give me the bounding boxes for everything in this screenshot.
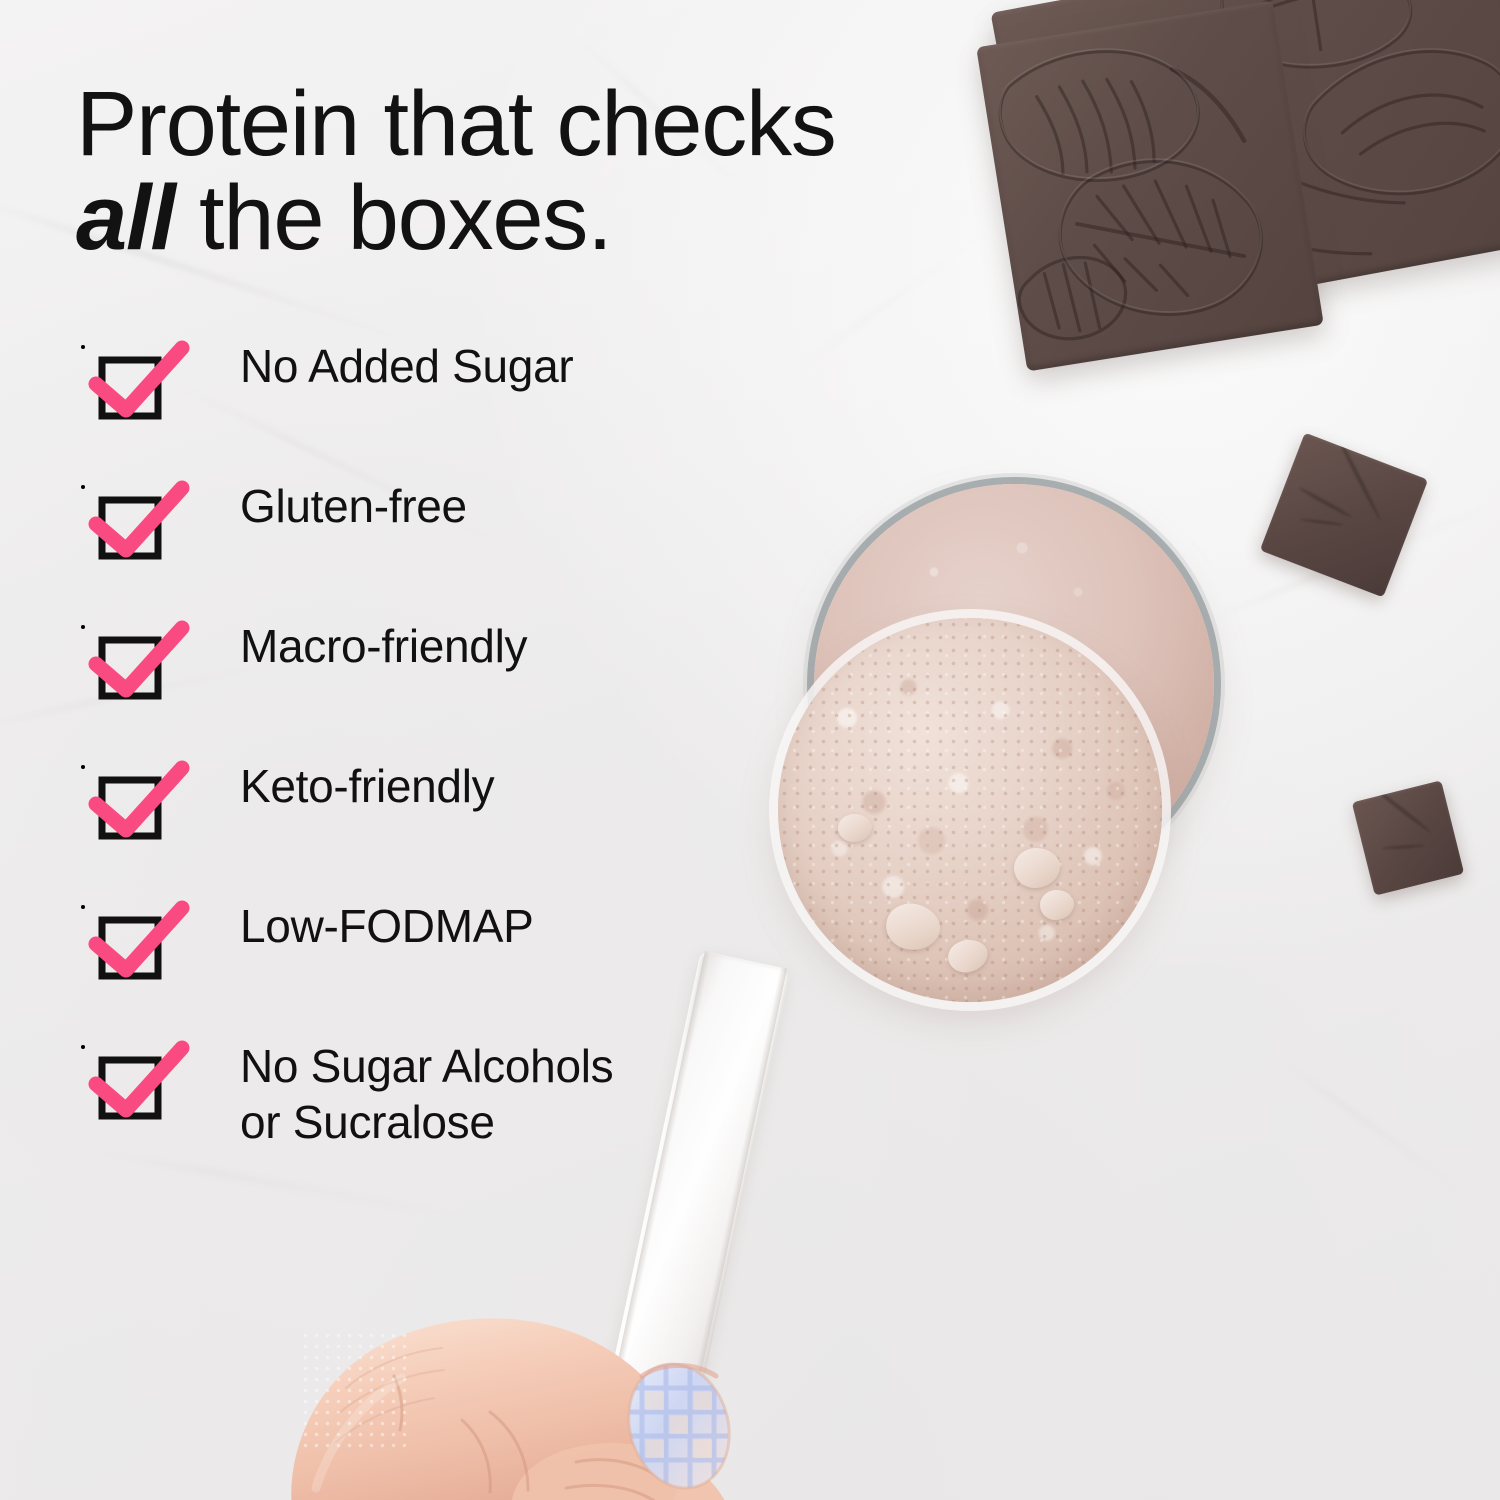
checklist-item-label: Keto-friendly — [240, 758, 494, 814]
protein-powder-scoop — [778, 618, 1162, 1002]
checklist-item-label: Low-FODMAP — [240, 898, 534, 954]
checklist-item-no-added-sugar: No Added Sugar — [96, 338, 856, 478]
checklist-item-label: Gluten-free — [240, 478, 467, 534]
product-promo-image: Protein that checks all the boxes. No Ad… — [0, 0, 1500, 1500]
checkbox-checked-icon[interactable] — [96, 346, 192, 426]
headline-line-2-rest: the boxes. — [175, 167, 612, 269]
checkbox-checked-icon[interactable] — [96, 906, 192, 986]
checklist-item-label: No Added Sugar — [240, 338, 573, 394]
headline-emphasis: all — [76, 167, 175, 269]
powder-dust — [300, 1330, 410, 1450]
checkbox-checked-icon[interactable] — [96, 1046, 192, 1126]
cacao-pod-emboss-icon — [976, 1, 1324, 372]
checkbox-checked-icon[interactable] — [96, 626, 192, 706]
checklist-item-macro-friendly: Macro-friendly — [96, 618, 856, 758]
checklist-item-keto-friendly: Keto-friendly — [96, 758, 856, 898]
checkbox-checked-icon[interactable] — [96, 486, 192, 566]
checklist-item-label: Macro-friendly — [240, 618, 527, 674]
checklist-item-label: No Sugar Alcohols or Sucralose — [240, 1038, 613, 1150]
chocolate-bar-front — [976, 1, 1324, 372]
checkbox-checked-icon[interactable] — [96, 766, 192, 846]
page-title: Protein that checks all the boxes. — [76, 78, 916, 266]
checklist-item-gluten-free: Gluten-free — [96, 478, 856, 618]
headline-line-1: Protein that checks — [76, 73, 836, 175]
